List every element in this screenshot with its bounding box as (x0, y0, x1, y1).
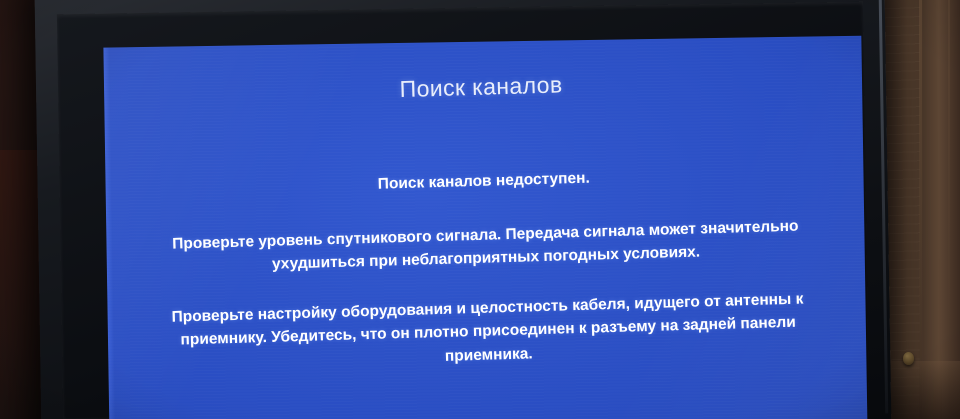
photo-of-tv-screen: Поиск каналов Поиск каналов недоступен. … (0, 0, 960, 419)
wood-seam-secondary (948, 0, 950, 419)
wood-seam-primary (919, 0, 922, 419)
page-title: Поиск каналов (103, 63, 860, 112)
tv-screen: Поиск каналов Поиск каналов недоступен. … (103, 36, 867, 419)
error-detail-signal: Проверьте уровень спутникового сигнала. … (132, 213, 839, 280)
furniture-knob (903, 352, 914, 365)
error-detail-cable: Проверьте настройку оборудования и целос… (134, 286, 842, 377)
error-headline: Поиск каналов недоступен. (131, 160, 837, 204)
tv-bezel: Поиск каналов Поиск каналов недоступен. … (57, 2, 869, 419)
receiver-ui: Поиск каналов Поиск каналов недоступен. … (103, 36, 867, 419)
tv-body: Поиск каналов Поиск каналов недоступен. … (35, 0, 892, 419)
error-message-block: Поиск каналов недоступен. Проверьте уров… (131, 160, 842, 378)
